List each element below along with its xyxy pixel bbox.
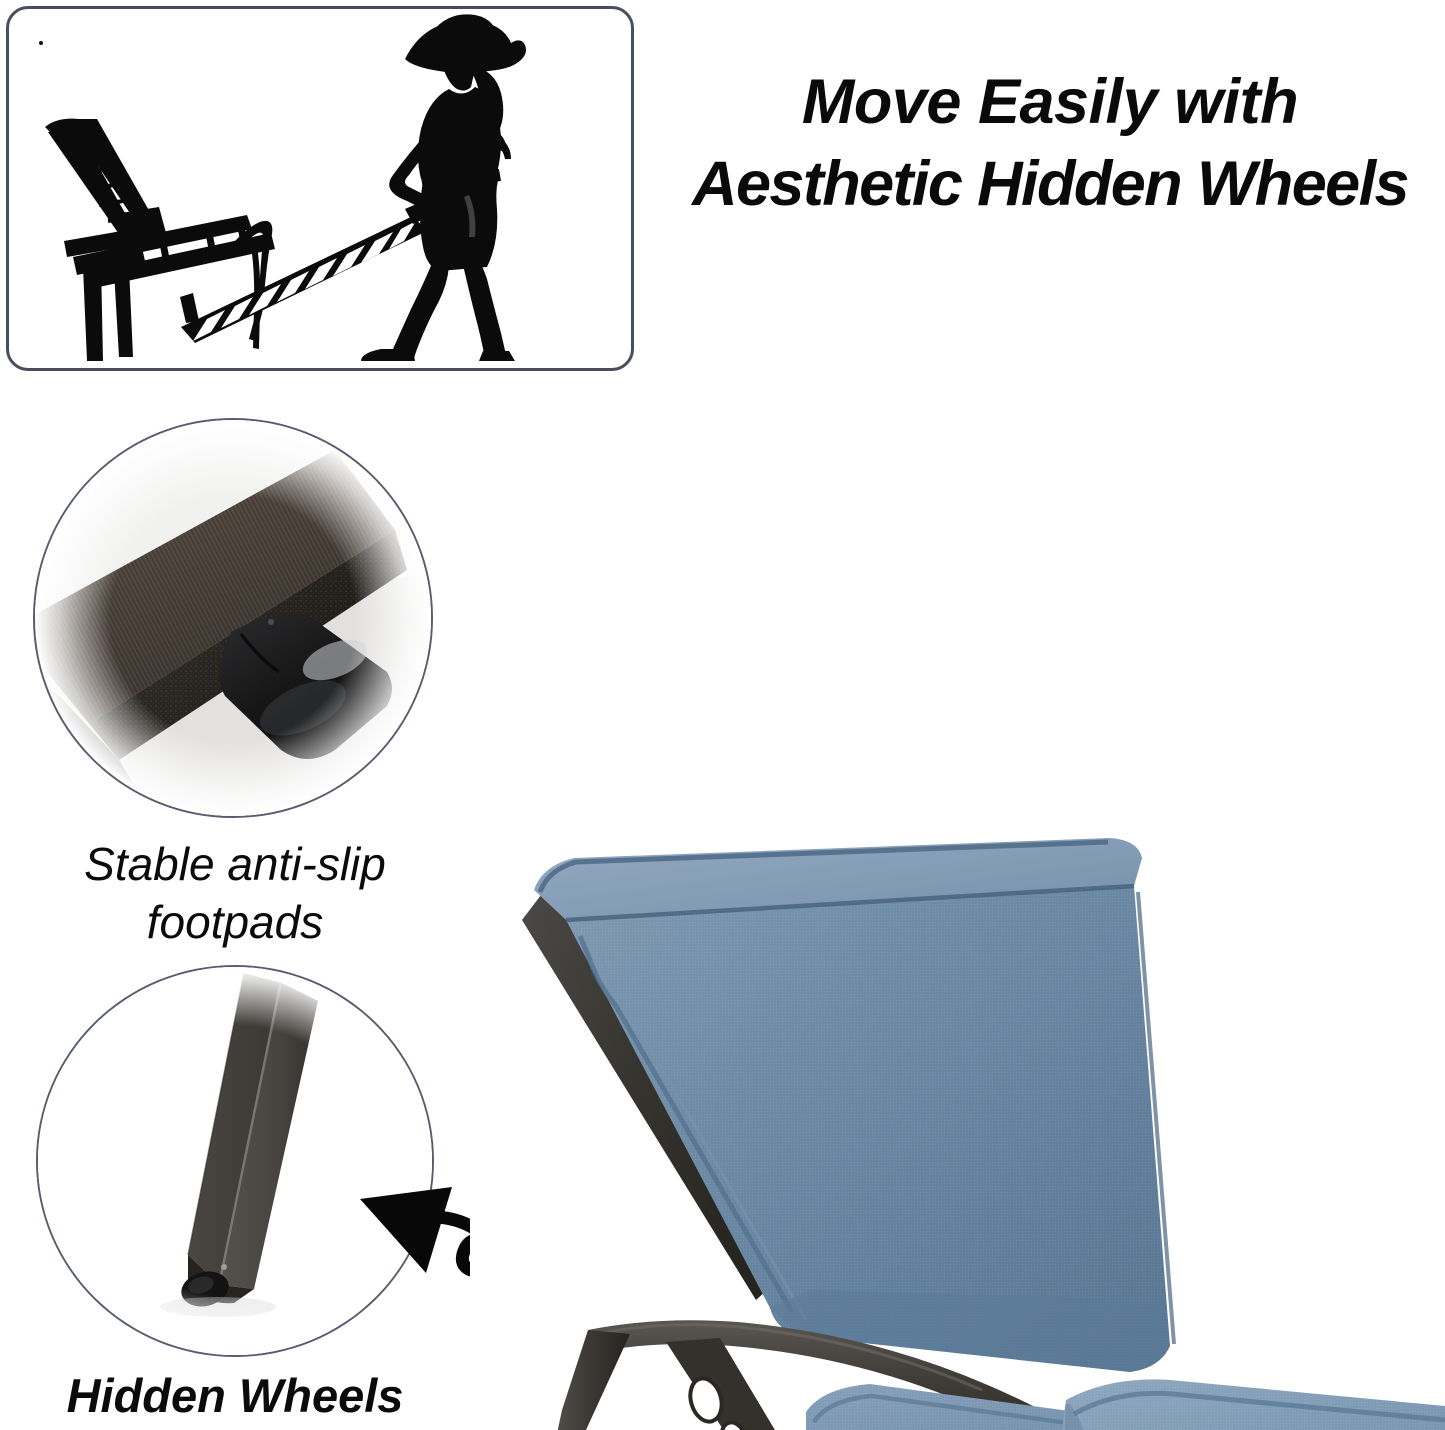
page-title: Move Easily with Aesthetic Hidden Wheels [660, 62, 1440, 226]
anti-slip-footpad-closeup-image [35, 420, 431, 816]
footpad-detail-photo [33, 418, 433, 818]
footpad-caption: Stable anti-slip footpads [20, 836, 450, 952]
chaise-pulling-silhouette-icon [9, 9, 631, 368]
headline-line-1: Move Easily with [660, 62, 1440, 144]
headline-line-2: Aesthetic Hidden Wheels [660, 144, 1440, 226]
hidden-wheels-caption: Hidden Wheels [20, 1368, 450, 1424]
hidden-wheels-caption-line-1: Hidden Wheels [20, 1368, 450, 1424]
footpad-caption-line-2: footpads [20, 894, 450, 952]
footpad-caption-line-1: Stable anti-slip [20, 836, 450, 894]
silhouette-illustration-panel [6, 6, 634, 371]
product-photo-chaise-lounge [470, 400, 1445, 1430]
